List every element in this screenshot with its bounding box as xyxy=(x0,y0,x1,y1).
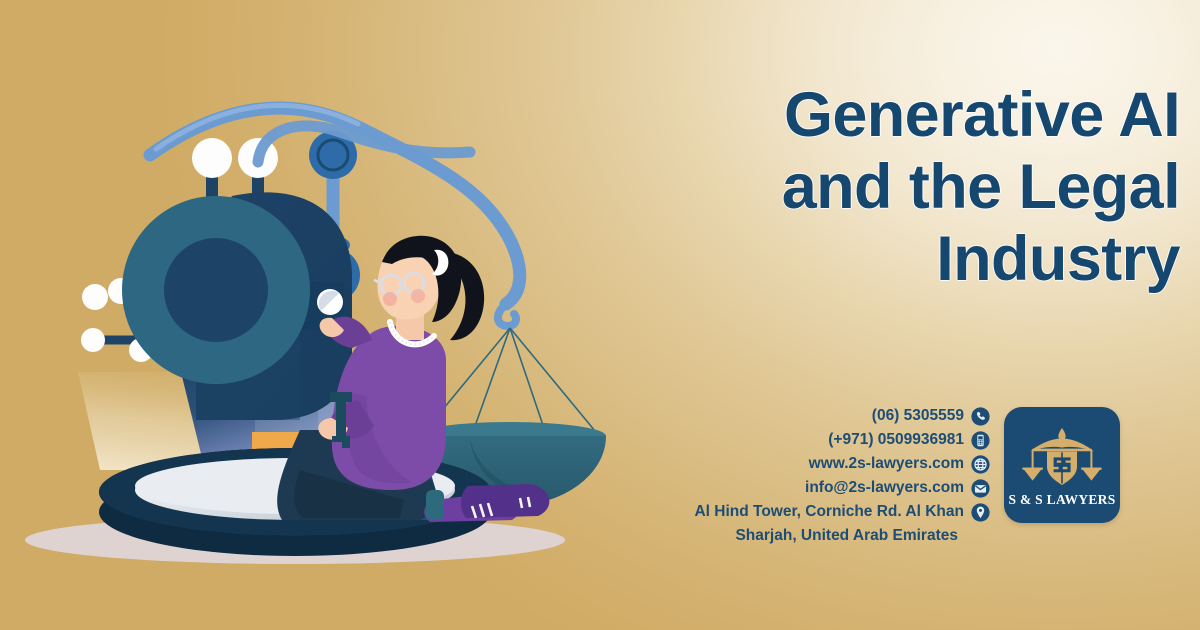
email-address: info@2s-lawyers.com xyxy=(805,476,964,500)
address-line-2: Sharjah, United Arab Emirates xyxy=(735,524,958,548)
scale-hook xyxy=(498,304,516,326)
antenna-node xyxy=(192,138,232,178)
contact-block: (06) 5305559 (+971) 0509936981 xyxy=(640,404,1120,548)
hero-illustration xyxy=(0,0,620,630)
company-logo[interactable]: S & S LAWYERS xyxy=(1004,407,1120,523)
mobile-icon xyxy=(971,431,990,450)
contact-item-address-line-2: Sharjah, United Arab Emirates xyxy=(640,524,990,548)
phone-number: (06) 5305559 xyxy=(872,404,964,428)
globe-icon xyxy=(971,455,990,474)
title-line-1: Generative AI xyxy=(565,80,1180,152)
envelope-icon xyxy=(971,479,990,498)
contact-item-mobile[interactable]: (+971) 0509936981 xyxy=(640,428,990,452)
contact-item-website[interactable]: www.2s-lawyers.com xyxy=(640,452,990,476)
phone-icon xyxy=(971,407,990,426)
logo-company-name: S & S LAWYERS xyxy=(1008,492,1115,508)
cheek-blush xyxy=(411,289,425,303)
contact-list: (06) 5305559 (+971) 0509936981 xyxy=(640,404,990,548)
scales-of-justice-logo-icon xyxy=(1016,426,1108,488)
node xyxy=(82,284,108,310)
page-title: Generative AI and the Legal Industry xyxy=(565,80,1180,295)
node xyxy=(81,328,105,352)
robot-ear-inner xyxy=(164,238,268,342)
mobile-number: (+971) 0509936981 xyxy=(828,428,964,452)
website-url: www.2s-lawyers.com xyxy=(809,452,964,476)
title-line-2: and the Legal xyxy=(565,152,1180,224)
contact-item-email[interactable]: info@2s-lawyers.com xyxy=(640,476,990,500)
cheek-blush xyxy=(383,292,397,306)
contact-item-phone[interactable]: (06) 5305559 xyxy=(640,404,990,428)
promo-banner: Generative AI and the Legal Industry (06… xyxy=(0,0,1200,630)
title-line-3: Industry xyxy=(565,224,1180,296)
location-pin-icon xyxy=(971,503,990,522)
address-line-1: Al Hind Tower, Corniche Rd. Al Khan xyxy=(694,500,964,524)
contact-item-address[interactable]: Al Hind Tower, Corniche Rd. Al Khan xyxy=(640,500,990,524)
